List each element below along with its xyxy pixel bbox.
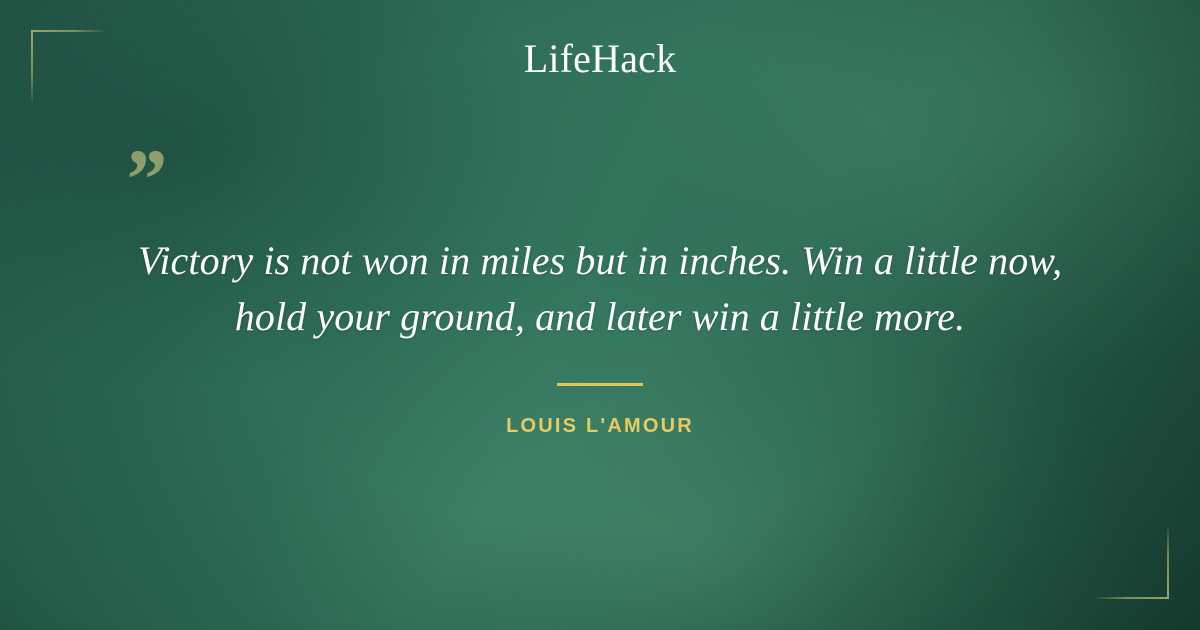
lifehack-logo: LifeHack — [0, 36, 1200, 82]
quote-card: LifeHack ” Victory is not won in miles b… — [0, 0, 1200, 630]
quote-line-1: Victory is not won in miles but in inche… — [138, 238, 1062, 283]
author-name: LOUIS L'AMOUR — [0, 413, 1200, 439]
quotation-mark-icon: ” — [122, 136, 165, 222]
quote-line-2: hold your ground, and later win a little… — [235, 294, 966, 339]
author-divider — [557, 383, 643, 386]
quote-text: Victory is not won in miles but in inche… — [100, 233, 1100, 345]
